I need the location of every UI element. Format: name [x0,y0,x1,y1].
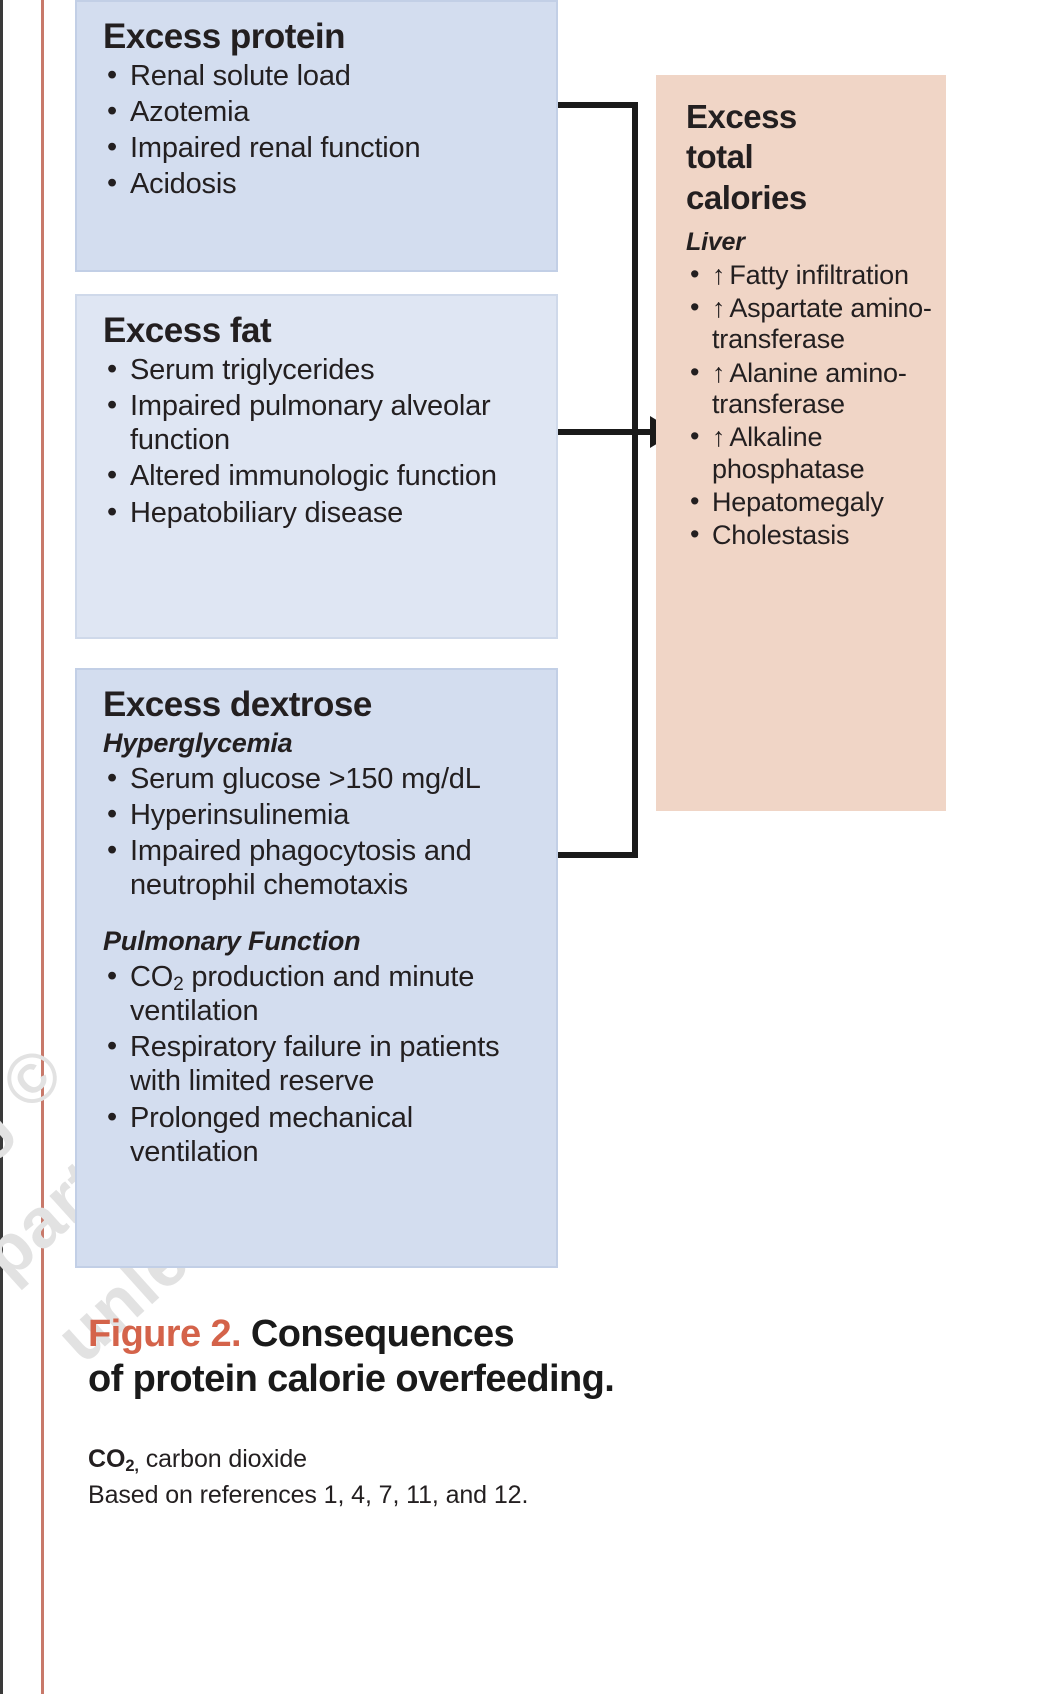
arrow-up-icon: ↑ [712,358,729,388]
box-excess-protein-list: •Renal solute load •Azotemia •Impaired r… [103,58,538,203]
list-item: •Renal solute load [103,58,538,94]
box-excess-dextrose-list-pulmonary: •CO2 production and minute ventilation •… [103,959,538,1170]
list-item: •↑Alanine amino-transferase [686,357,932,422]
list-item: •Serum glucose >150 mg/dL [103,761,538,797]
arrow-up-icon: ↑ [712,422,729,452]
list-item: •Impaired renal function [103,130,538,166]
bullet-icon: • [107,495,117,529]
box-excess-dextrose-title: Excess dextrose [103,686,538,724]
list-item: •Respiratory failure in patients with li… [103,1029,538,1099]
box-excess-dextrose: Excess dextrose Hyperglycemia •Serum glu… [75,668,558,1268]
subhead-hyperglycemia: Hyperglycemia [103,728,538,759]
abbrev-term: CO [88,1445,125,1473]
bullet-icon: • [107,797,117,831]
list-item-label: Hyperinsulinemia [130,799,349,831]
box-excess-dextrose-list-hyperglycemia: •Serum glucose >150 mg/dL •Hyperinsuline… [103,761,538,904]
list-item-label: Azotemia [130,96,249,128]
footnote-source: Based on references 1, 4, 7, 11, and 12. [88,1478,888,1514]
list-item-label: Respiratory failure in patients with lim… [130,1031,499,1097]
list-item: •Prolonged mechanical ventilation [103,1100,538,1170]
list-item-label: Prolonged mechanical ventilation [130,1102,413,1168]
box-excess-total-calories-list: •↑Fatty infiltration •↑Aspartate amino-t… [686,259,932,553]
list-item-label: Hepatomegaly [712,487,884,517]
list-item-label: Alkaline phosphatase [712,422,864,483]
section-spacer [103,904,538,922]
list-item: •Azotemia [103,94,538,130]
caption-line-1: Figure 2. Consequences [88,1312,888,1357]
list-item: •Impaired phagocytosis and neutrophil ch… [103,833,538,903]
figure-footnotes: CO2, carbon dioxide Based on references … [88,1442,888,1513]
box-excess-total-calories: Excesstotalcalories Liver •↑Fatty infilt… [656,75,946,811]
list-item: •Altered immunologic function [103,458,538,494]
list-item-label: Altered immunologic function [130,460,497,492]
list-item-label: Impaired renal function [130,132,420,164]
bullet-icon: • [107,94,117,128]
list-item-label: Acidosis [130,168,236,200]
figure-diagram: Excess protein •Renal solute load •Azote… [0,0,1045,1694]
list-item-label: Fatty infiltration [729,260,908,290]
list-item-label: Impaired pulmonary alveolar function [130,390,491,456]
list-item-label: Cholestasis [712,520,849,550]
list-item: •Hepatomegaly [686,486,932,519]
list-item-label: Alanine amino-transferase [712,358,907,419]
bullet-icon: • [107,833,117,867]
bullet-icon: • [690,519,699,550]
bullet-icon: • [690,421,699,452]
bullet-icon: • [107,58,117,92]
caption-text: Consequences [241,1313,514,1355]
subhead-liver: Liver [686,228,932,257]
bullet-icon: • [107,1029,117,1063]
list-item: •↑Alkaline phosphatase [686,421,932,486]
bullet-icon: • [690,357,699,388]
list-item-label: Serum glucose >150 mg/dL [130,763,481,795]
bullet-icon: • [107,761,117,795]
list-item: •CO2 production and minute ventilation [103,959,538,1029]
list-item: •Hyperinsulinemia [103,797,538,833]
list-item-label: Serum triglycerides [130,354,374,386]
abbrev-definition: carbon dioxide [139,1445,307,1473]
box-excess-total-calories-title: Excesstotalcalories [686,97,932,218]
arrow-up-icon: ↑ [712,260,729,290]
list-item-label: Renal solute load [130,60,351,92]
box-excess-fat: Excess fat •Serum triglycerides •Impaire… [75,294,558,639]
box-excess-fat-list: •Serum triglycerides •Impaired pulmonary… [103,352,538,531]
list-item: •Impaired pulmonary alveolar function [103,388,538,458]
list-item: •Cholestasis [686,519,932,552]
subhead-pulmonary-function: Pulmonary Function [103,926,538,957]
figure-number-label: Figure 2. [88,1313,241,1355]
bullet-icon: • [107,959,117,993]
bullet-icon: • [107,1100,117,1134]
abbrev-subscript: 2, [125,1457,139,1475]
list-item-label: Aspartate amino-transferase [712,293,932,354]
list-item: •Acidosis [103,166,538,202]
list-item-label-prefix: CO [130,961,173,993]
figure-caption: Figure 2. Consequences of protein calori… [88,1312,888,1402]
caption-line-2: of protein calorie overfeeding. [88,1357,888,1402]
bullet-icon: • [690,486,699,517]
box-excess-fat-title: Excess fat [103,312,538,350]
list-item: •↑Fatty infiltration [686,259,932,292]
box-excess-protein-title: Excess protein [103,18,538,56]
title-line-2: total [686,138,753,175]
bullet-icon: • [107,458,117,492]
bullet-icon: • [107,130,117,164]
box-excess-protein: Excess protein •Renal solute load •Azote… [75,0,558,272]
bullet-icon: • [690,259,699,290]
bullet-icon: • [107,388,117,422]
list-item-label: Impaired phagocytosis and neutrophil che… [130,835,472,901]
bullet-icon: • [107,166,117,200]
list-item: •↑Aspartate amino-transferase [686,292,932,357]
bracket-arrow-right-icon [540,80,670,880]
connector-bracket-arrow [540,80,670,880]
arrow-up-icon: ↑ [712,293,729,323]
title-line-3: calories [686,179,807,216]
list-item: •Hepatobiliary disease [103,495,538,531]
list-item-label: Hepatobiliary disease [130,497,403,529]
bullet-icon: • [690,292,699,323]
list-item: •Serum triglycerides [103,352,538,388]
title-line-1: Excess [686,98,797,135]
footnote-abbreviation: CO2, carbon dioxide [88,1442,888,1478]
subscript: 2 [173,974,183,995]
bullet-icon: • [107,352,117,386]
